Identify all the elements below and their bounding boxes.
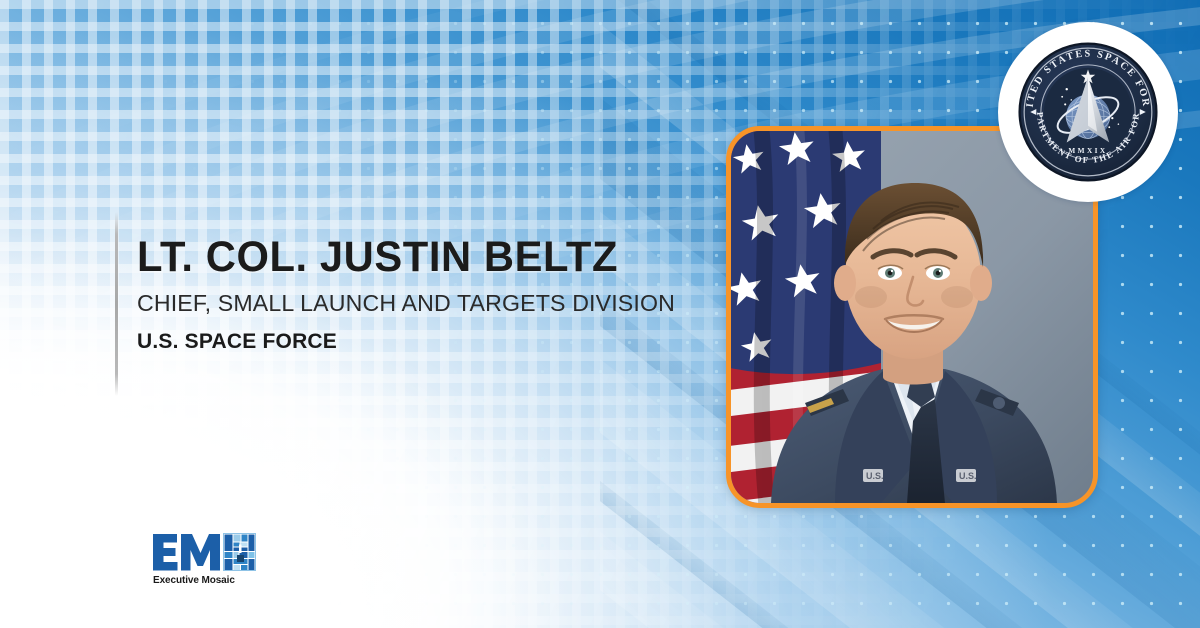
- svg-text:U.S.: U.S.: [866, 471, 884, 481]
- person-text-block: LT. COL. JUSTIN BELTZ CHIEF, SMALL LAUNC…: [137, 233, 717, 354]
- leadership-announcement-card: LT. COL. JUSTIN BELTZ CHIEF, SMALL LAUNC…: [0, 0, 1200, 628]
- person-title: CHIEF, SMALL LAUNCH AND TARGETS DIVISION: [137, 289, 708, 317]
- executive-mosaic-wordmark: Executive Mosaic: [153, 575, 235, 586]
- person-name: LT. COL. JUSTIN BELTZ: [137, 233, 700, 281]
- executive-mosaic-logo-graphic: Executive Mosaic: [152, 531, 258, 587]
- executive-mosaic-logo[interactable]: Executive Mosaic: [152, 531, 258, 587]
- vertical-divider: [115, 212, 118, 396]
- svg-text:U.S.: U.S.: [959, 471, 977, 481]
- us-space-force-seal: UNITED STATES SPACE FORCE DEPARTMENT OF …: [998, 22, 1178, 202]
- person-organization: U.S. SPACE FORCE: [137, 330, 717, 354]
- seal-year-text: MMXIX: [1068, 147, 1107, 155]
- seal-graphic: UNITED STATES SPACE FORCE DEPARTMENT OF …: [1012, 36, 1164, 188]
